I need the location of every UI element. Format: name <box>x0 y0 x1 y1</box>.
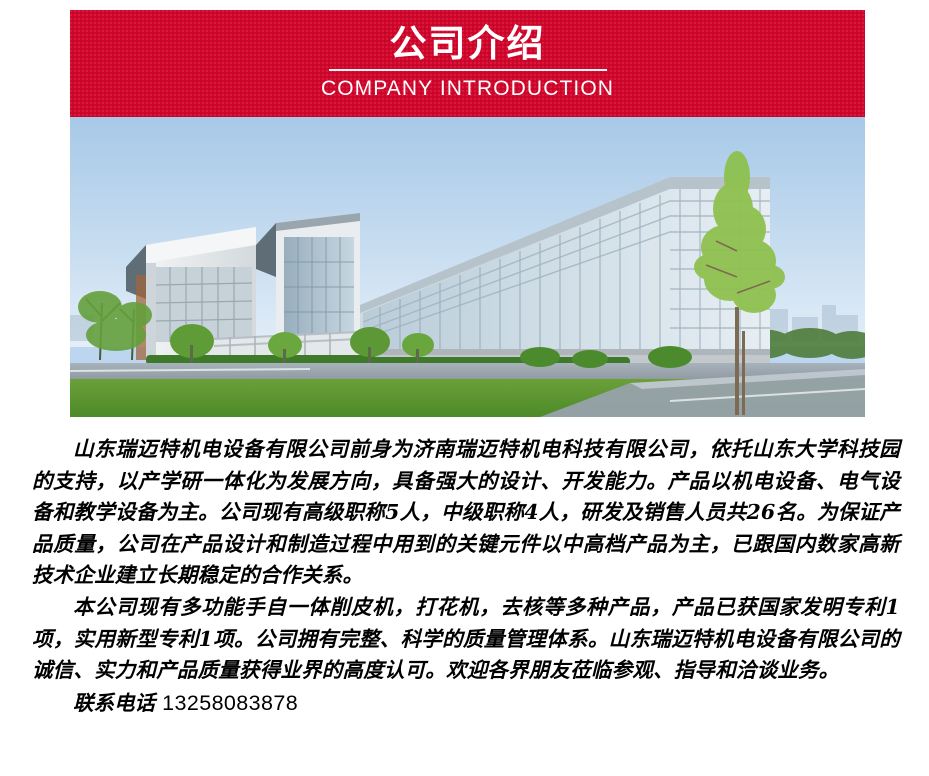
building-illustration <box>70 117 865 417</box>
company-introduction-page: 公司介绍 COMPANY INTRODUCTION <box>0 0 929 776</box>
page-title: 公司介绍 <box>390 22 546 66</box>
title-divider <box>329 69 607 71</box>
company-description: 山东瑞迈特机电设备有限公司前身为济南瑞迈特机电科技有限公司，依托山东大学科技园的… <box>32 434 900 719</box>
contact-phone-number[interactable]: 13258083878 <box>162 691 298 715</box>
company-building-photo <box>70 117 865 417</box>
page-subtitle: COMPANY INTRODUCTION <box>321 76 614 101</box>
paragraph-2: 本公司现有多功能手自一体削皮机，打花机，去核等多种产品，产品已获国家发明专利1项… <box>32 592 900 687</box>
contact-line: 联系电话 13258083878 <box>32 688 900 720</box>
contact-label: 联系电话 <box>73 691 162 715</box>
paragraph-1: 山东瑞迈特机电设备有限公司前身为济南瑞迈特机电科技有限公司，依托山东大学科技园的… <box>32 434 900 592</box>
header-banner: 公司介绍 COMPANY INTRODUCTION <box>70 10 865 117</box>
